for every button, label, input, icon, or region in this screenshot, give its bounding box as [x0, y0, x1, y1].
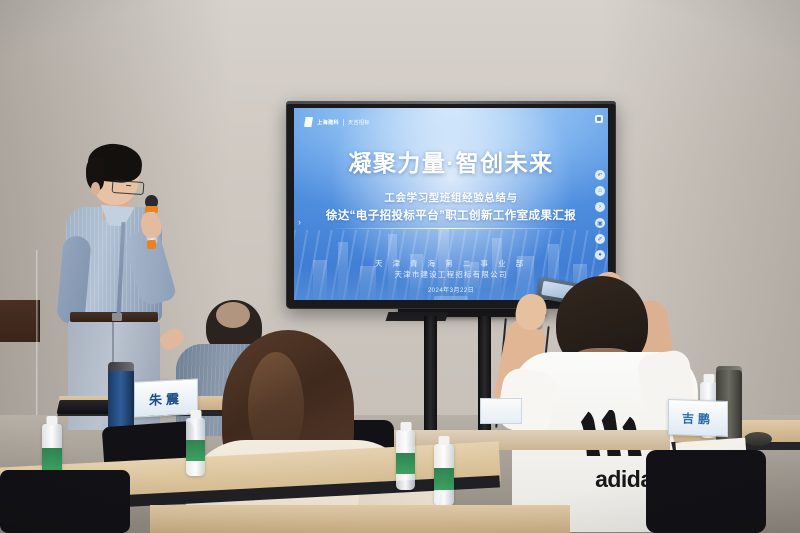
logo-secondary-text: 天吉招标	[348, 119, 370, 126]
logo-primary-text: 上海建科	[317, 119, 339, 126]
brand-mark-icon	[304, 117, 313, 127]
screen-cast-icon[interactable]	[595, 115, 603, 123]
chair	[0, 470, 130, 533]
bottle-cap	[400, 422, 411, 431]
presenter-glasses	[112, 180, 145, 195]
table-foreground	[150, 505, 570, 533]
slide-subtitle-line-1: 工会学习型班组经验总结与	[294, 190, 608, 205]
bottle-label	[42, 448, 62, 470]
name-placard-left: 朱震	[134, 378, 198, 417]
more-tools-icon[interactable]: ●	[595, 250, 605, 260]
name-placard-middle	[480, 398, 522, 424]
microphone-tip	[147, 240, 157, 250]
next-arrow-icon[interactable]: ›	[595, 202, 605, 212]
water-bottle	[434, 444, 454, 506]
next-arrow-icon[interactable]: ›	[296, 216, 303, 229]
slide-footer-tag	[434, 296, 468, 300]
undo-icon[interactable]: ↶	[595, 170, 605, 180]
water-bottle	[186, 418, 205, 476]
display-bezel-highlight	[286, 101, 616, 104]
pen-icon[interactable]: ✐	[595, 234, 605, 244]
logo-divider	[343, 119, 344, 126]
display-side-toolbar[interactable]: ↶ ⌂ › ▣ ✐ ●	[595, 170, 605, 260]
slide-logo-lockup: 上海建科 天吉招标	[304, 117, 370, 127]
attendee-scalp	[216, 302, 250, 328]
slide-title: 凝聚力量·智创未来	[294, 144, 608, 178]
tv-stand-post-left	[424, 316, 437, 436]
bottle-cap	[47, 416, 58, 425]
thermos-cup-lid	[744, 432, 772, 446]
home-icon[interactable]: ⌂	[595, 186, 605, 196]
display-screen[interactable]: 上海建科 天吉招标 凝聚力量·智创未来 工会学习型班组经验总结与 徐达“电子招投…	[294, 108, 608, 300]
door-panel	[0, 300, 40, 342]
tumbler-lid	[108, 362, 134, 371]
slide-subtitle-line-2: 徐达“电子招投标平台”职工创新工作室成果汇报	[294, 207, 608, 223]
bottle-cap	[439, 436, 450, 445]
presenter-ear	[91, 182, 100, 195]
bottle-cap	[703, 374, 714, 383]
name-placard-text: 朱震	[149, 388, 183, 409]
wall-corner-edge	[36, 250, 39, 420]
tv-mount-bracket-side	[386, 312, 449, 321]
chair	[646, 450, 766, 533]
water-bottle	[396, 430, 415, 490]
bottle-cap	[190, 410, 201, 419]
screenshot-icon[interactable]: ▣	[595, 218, 605, 228]
meeting-room-photo: 上海建科 天吉招标 凝聚力量·智创未来 工会学习型班组经验总结与 徐达“电子招投…	[0, 0, 800, 533]
bottle-label	[396, 453, 415, 475]
bottle-label	[434, 468, 454, 490]
name-placard-right: 吉鹏	[668, 399, 728, 437]
slide-org-line-2: 天津市建设工程招标有限公司	[294, 269, 608, 280]
bottle-label	[186, 440, 205, 461]
insulated-tumbler	[108, 368, 134, 430]
name-placard-text: 吉鹏	[682, 409, 714, 427]
slide-divider-rule	[330, 228, 572, 229]
presenter-belt-buckle	[112, 313, 122, 321]
slide-org-line-1: 天 津 青 海 第 二 事 业 部	[294, 258, 608, 269]
